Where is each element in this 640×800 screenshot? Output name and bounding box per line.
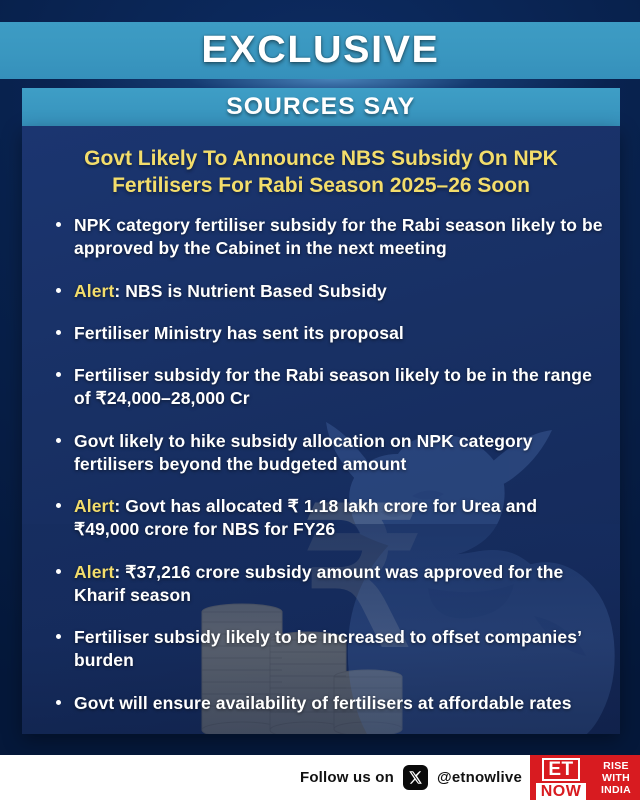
- bullet-dot-icon: [56, 372, 61, 377]
- bullet-dot-icon: [56, 222, 61, 227]
- alert-label: Alert: [74, 562, 114, 582]
- exclusive-banner: EXCLUSIVE: [0, 22, 640, 79]
- logo-left-block: ET NOW ETNOW.IN: [530, 755, 592, 800]
- follow-us-label: Follow us on: [300, 769, 394, 786]
- headline-line-1: Govt Likely To Announce NBS Subsidy On N…: [52, 146, 590, 173]
- tagline-line-1: RISE: [603, 760, 629, 772]
- sources-say-label: SOURCES SAY: [226, 93, 415, 121]
- social-handle[interactable]: @etnowlive: [437, 769, 522, 786]
- list-item-text: Govt likely to hike subsidy allocation o…: [74, 431, 533, 474]
- x-twitter-icon[interactable]: [403, 765, 428, 790]
- alert-label: Alert: [74, 281, 114, 301]
- bullet-dot-icon: [56, 503, 61, 508]
- sources-say-banner: SOURCES SAY: [22, 88, 620, 126]
- tagline-line-2: WITH: [602, 772, 630, 784]
- exclusive-label: EXCLUSIVE: [201, 29, 439, 72]
- logo-et-text: ET: [542, 758, 579, 781]
- list-item: Fertiliser subsidy likely to be increase…: [40, 626, 605, 673]
- list-item-text: NPK category fertiliser subsidy for the …: [74, 215, 603, 258]
- list-item-text: : Govt has allocated ₹ 1.18 lakh crore f…: [74, 496, 537, 539]
- list-item: NPK category fertiliser subsidy for the …: [40, 214, 605, 261]
- list-item-text: : NBS is Nutrient Based Subsidy: [114, 281, 386, 301]
- list-item: Govt likely to hike subsidy allocation o…: [40, 430, 605, 477]
- alert-label: Alert: [74, 496, 114, 516]
- list-item: Govt will ensure availability of fertili…: [40, 692, 605, 715]
- bullet-dot-icon: [56, 330, 61, 335]
- list-item: Alert: Govt has allocated ₹ 1.18 lakh cr…: [40, 495, 605, 542]
- tagline-line-3: INDIA: [601, 784, 631, 796]
- list-item: Fertiliser Ministry has sent its proposa…: [40, 322, 605, 345]
- bullet-dot-icon: [56, 438, 61, 443]
- list-item-text: Fertiliser Ministry has sent its proposa…: [74, 323, 404, 343]
- bullet-dot-icon: [56, 700, 61, 705]
- list-item: Alert: ₹37,216 crore subsidy amount was …: [40, 561, 605, 608]
- et-now-logo: ET NOW ETNOW.IN RISE WITH INDIA: [530, 755, 640, 800]
- content-panel: ₹: [22, 126, 620, 734]
- list-item-text: Fertiliser subsidy likely to be increase…: [74, 627, 581, 670]
- list-item-text: Govt will ensure availability of fertili…: [74, 693, 572, 713]
- page-title: Govt Likely To Announce NBS Subsidy On N…: [52, 146, 590, 200]
- logo-now-text: NOW: [536, 783, 587, 800]
- bullet-dot-icon: [56, 634, 61, 639]
- poster-root: EXCLUSIVE SOURCES SAY ₹: [0, 0, 640, 800]
- list-item-text: : ₹37,216 crore subsidy amount was appro…: [74, 562, 563, 605]
- list-item: Fertiliser subsidy for the Rabi season l…: [40, 364, 605, 411]
- logo-tagline: RISE WITH INDIA: [592, 755, 640, 800]
- follow-us-group: Follow us on @etnowlive: [300, 765, 522, 790]
- bullet-dot-icon: [56, 288, 61, 293]
- headline-line-2: Fertilisers For Rabi Season 2025–26 Soon: [52, 173, 590, 200]
- list-item: Alert: NBS is Nutrient Based Subsidy: [40, 280, 605, 303]
- bullet-dot-icon: [56, 569, 61, 574]
- list-item-text: Fertiliser subsidy for the Rabi season l…: [74, 365, 592, 408]
- footer-bar: Follow us on @etnowlive ET NOW ETNOW.IN …: [0, 755, 640, 800]
- bullet-list: NPK category fertiliser subsidy for the …: [40, 214, 605, 734]
